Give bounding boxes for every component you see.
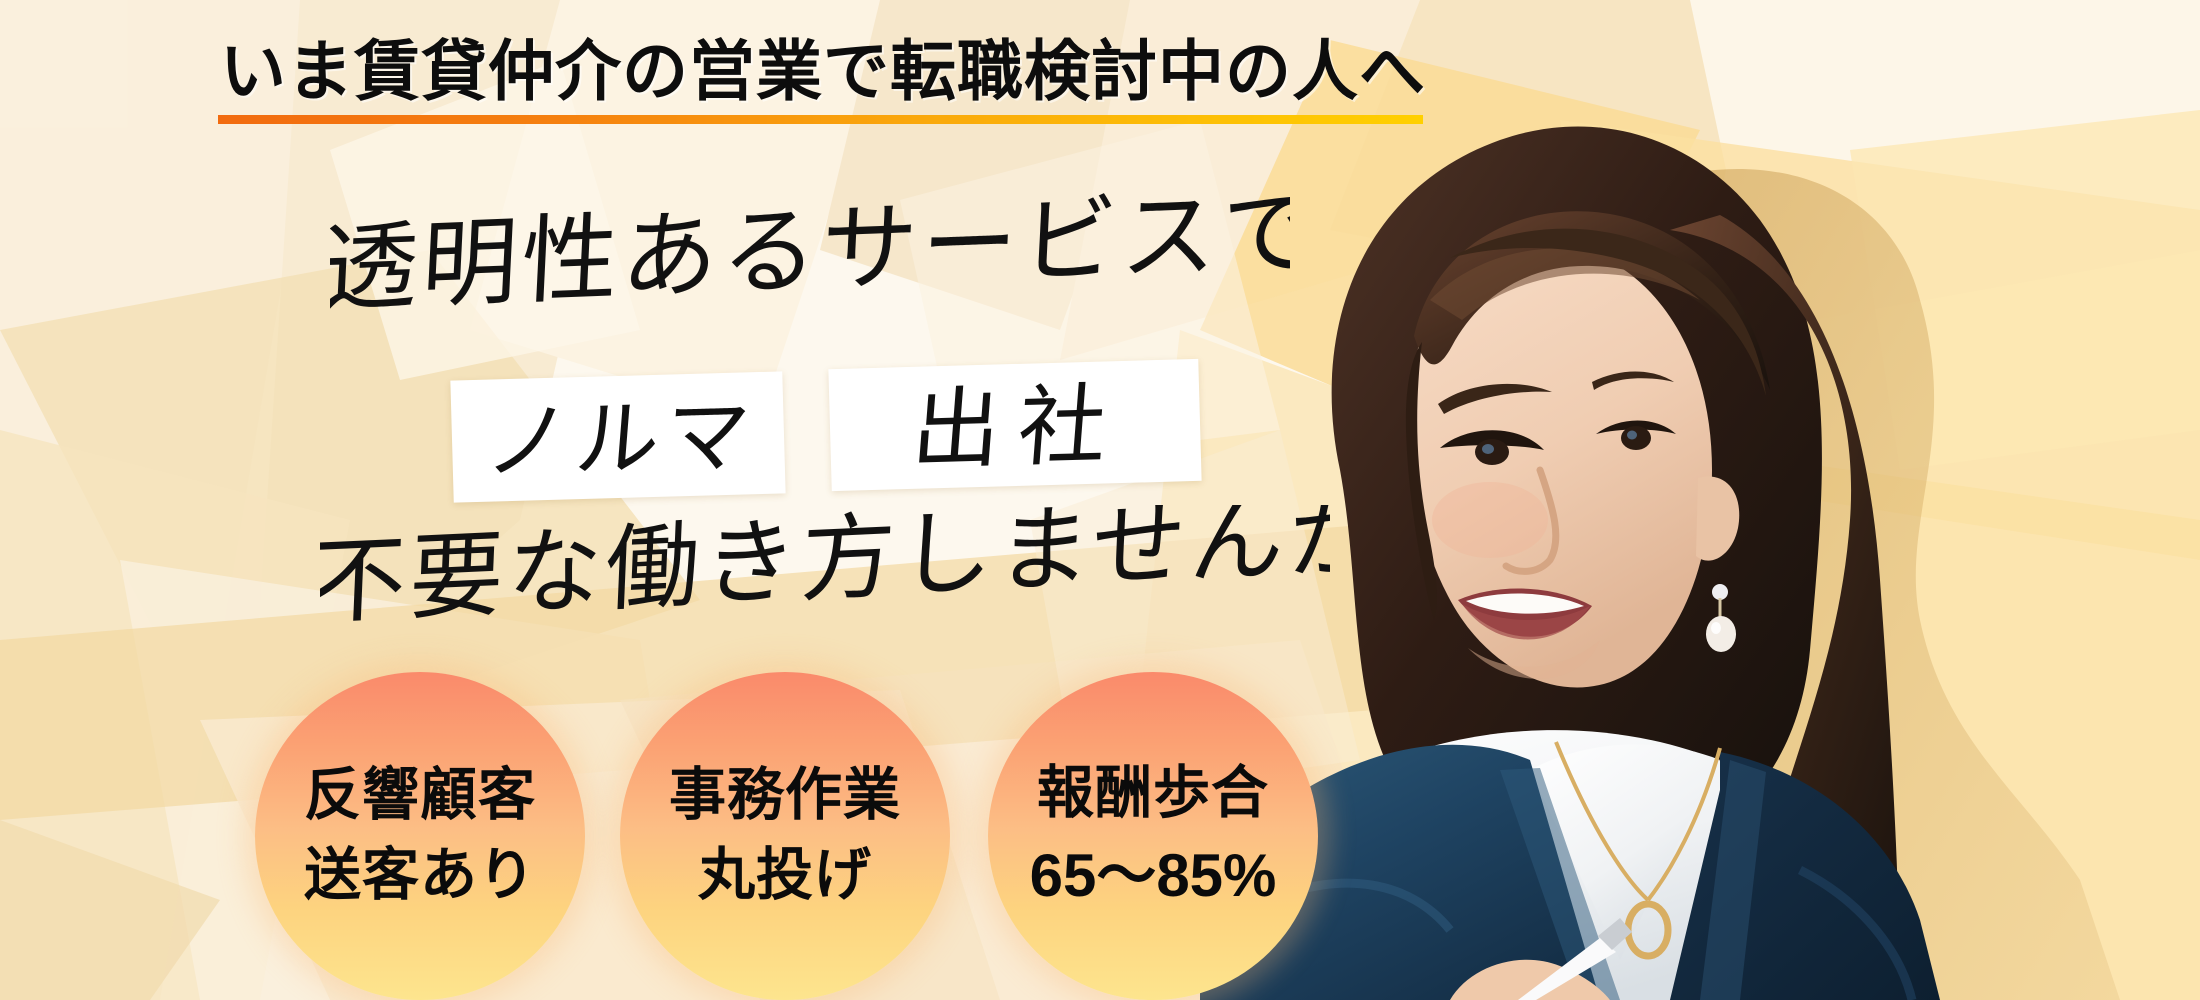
badge-0-line1: 反響顧客 (304, 764, 536, 828)
keyword-box-shussha-label: 出社 (908, 373, 1128, 482)
keyword-box-norma-label: ノルマ (482, 386, 759, 492)
badge-1-line2: 丸投げ (698, 844, 872, 908)
handwritten-line-1: 透明性あるサービスで (330, 190, 1290, 340)
keyword-box-norma-svg: ノルマ (450, 371, 785, 502)
badge-0-line2: 送客あり (304, 844, 536, 908)
portrait-photo (1200, 0, 2200, 1000)
badge-1-line1: 事務作業 (669, 764, 901, 828)
badge-2-line2: 65〜85% (1030, 842, 1277, 909)
kicker-block: いま賃貸仲介の営業で転職検討中の人へ (218, 38, 1428, 124)
keyword-box-shussha-svg: 出社 (828, 359, 1201, 491)
badge-reaction-customers: 反響顧客 送客あり (255, 672, 585, 1000)
kicker-text: いま賃貸仲介の営業で転職検討中の人へ (218, 38, 1428, 104)
kicker-underline (218, 115, 1423, 124)
handwritten-line-3: 不要な働き方しませんか？ (320, 505, 1330, 655)
handwritten-line-3-text: 不要な働き方しませんか？ (320, 505, 1330, 638)
hero-banner: いま賃貸仲介の営業で転職検討中の人へ 透明性あるサービスで ノルマ 出社 不要な… (0, 0, 2200, 1000)
handwritten-line-1-text: 透明性あるサービスで (330, 190, 1290, 325)
badge-commission-rate: 報酬歩合 65〜85% (988, 672, 1318, 1000)
badge-2-line1: 報酬歩合 (1037, 762, 1269, 826)
keyword-box-norma: ノルマ (450, 371, 785, 502)
keyword-box-shussha: 出社 (828, 359, 1201, 491)
badge-office-work: 事務作業 丸投げ (620, 672, 950, 1000)
